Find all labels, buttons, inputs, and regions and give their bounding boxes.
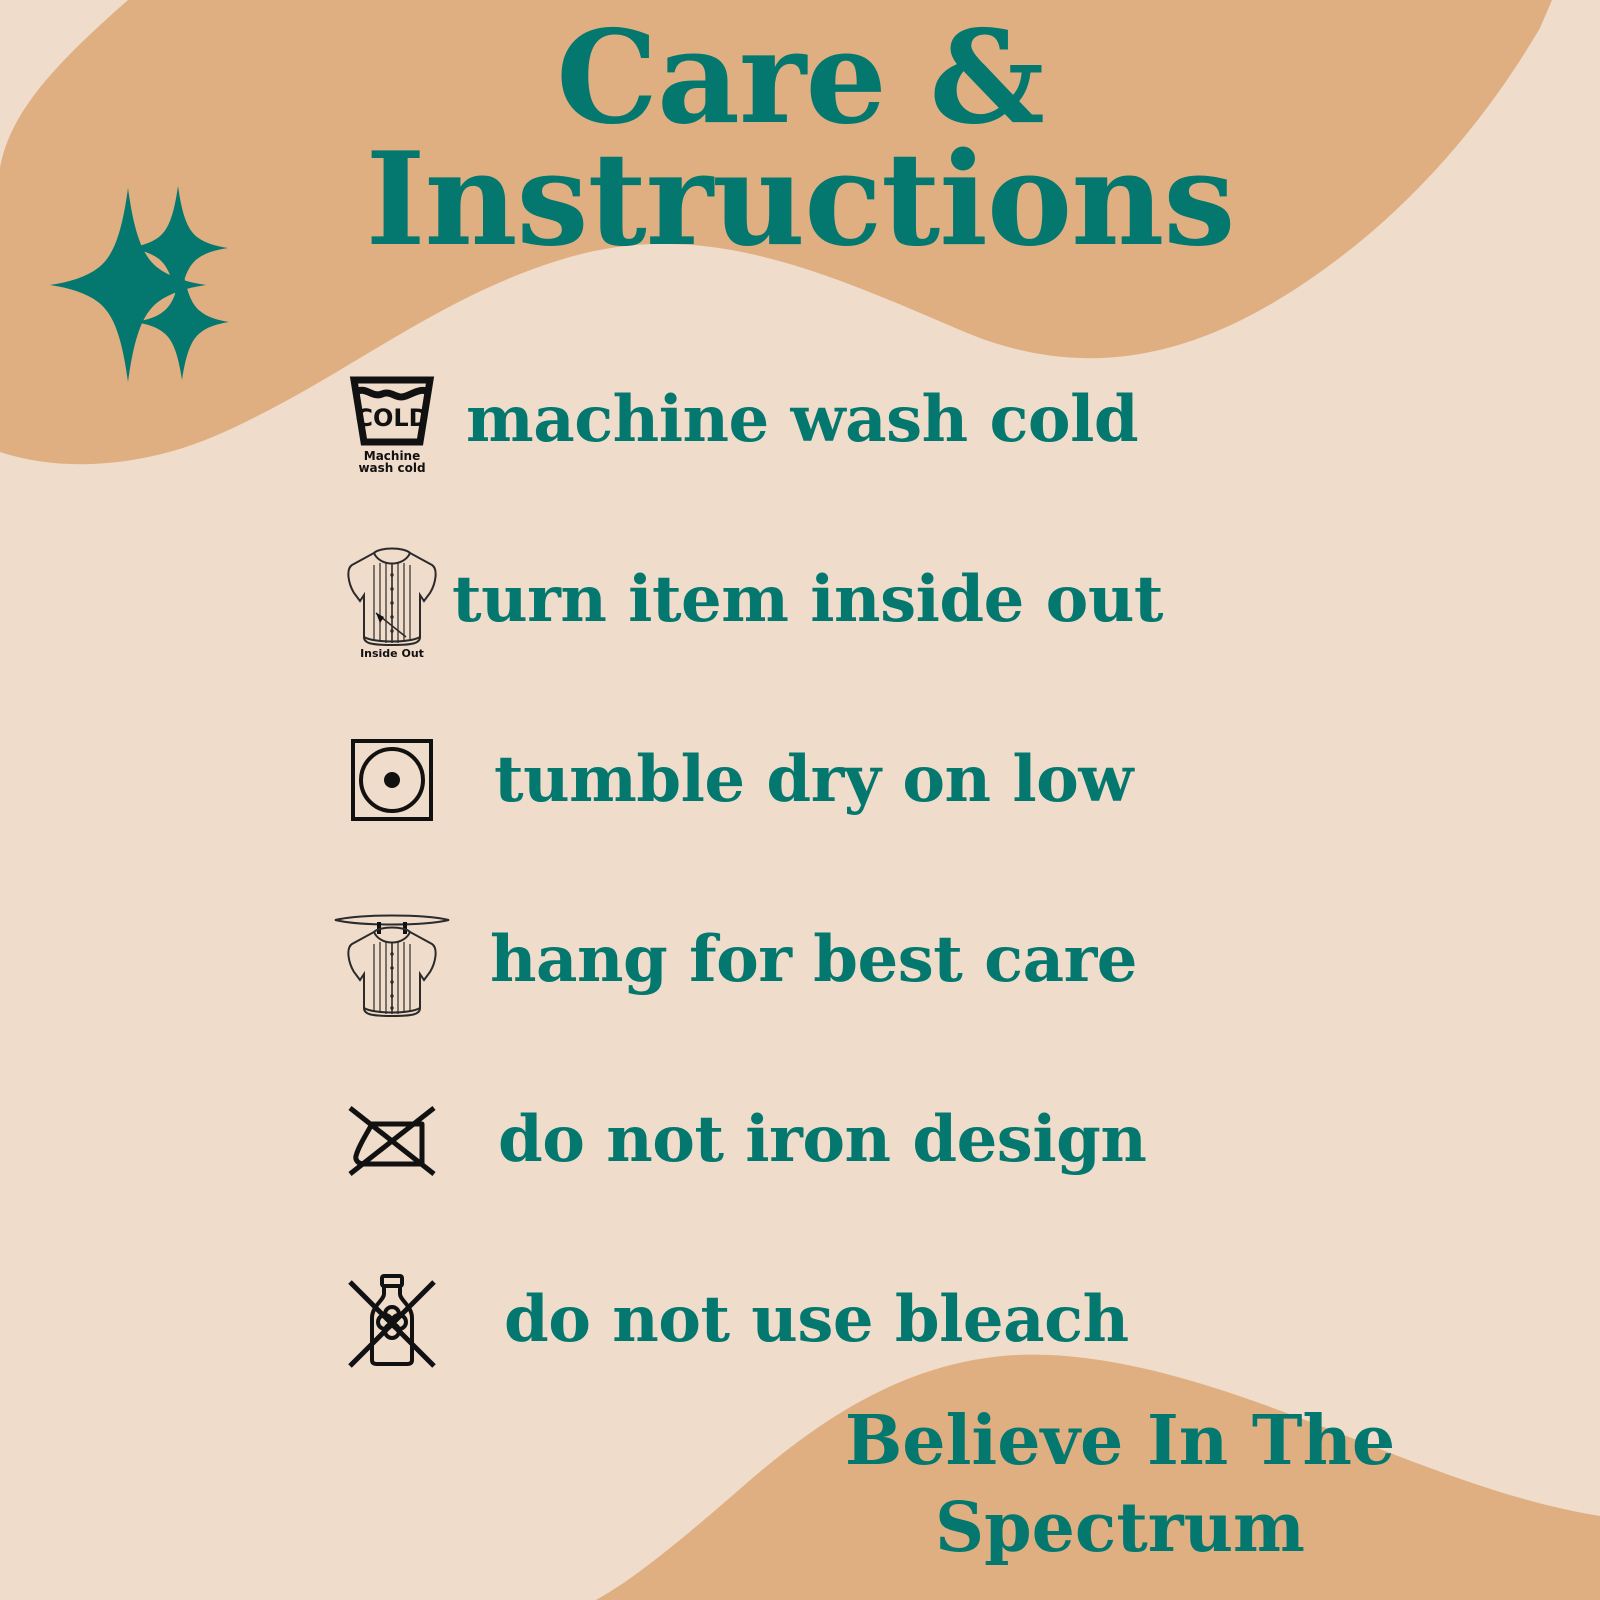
brand-line-2: Spectrum xyxy=(810,1485,1430,1572)
brand-name: Believe In The Spectrum xyxy=(810,1398,1430,1572)
list-item: do not iron design xyxy=(0,1050,1600,1230)
title-line-2: Instructions xyxy=(0,140,1600,262)
wash-icon-caption-2: wash cold xyxy=(358,461,425,475)
instruction-label: do not use bleach xyxy=(504,1288,1129,1352)
instruction-label: hang for best care xyxy=(490,928,1137,992)
list-item: tumble dry on low xyxy=(0,690,1600,870)
brand-line-1: Believe In The xyxy=(810,1398,1430,1485)
instruction-label: turn item inside out xyxy=(452,568,1163,632)
page-title: Care & Instructions xyxy=(0,18,1600,261)
list-item: hang for best care xyxy=(0,870,1600,1050)
machine-wash-cold-icon: COLD Machine wash cold xyxy=(336,355,448,485)
title-line-1: Care & xyxy=(0,18,1600,140)
wash-icon-text: COLD xyxy=(355,404,428,432)
instruction-label: tumble dry on low xyxy=(494,748,1133,812)
turn-inside-out-shirt-icon: Inside Out xyxy=(336,535,448,665)
inside-out-caption: Inside Out xyxy=(360,647,424,659)
instruction-label: machine wash cold xyxy=(466,388,1138,452)
instruction-list: COLD Machine wash cold machine wash cold xyxy=(0,330,1600,1410)
list-item: Inside Out turn item inside out xyxy=(0,510,1600,690)
do-not-bleach-icon xyxy=(336,1255,448,1385)
care-instructions-poster: Care & Instructions COLD Machine wash co… xyxy=(0,0,1600,1600)
instruction-label: do not iron design xyxy=(498,1108,1146,1172)
list-item: COLD Machine wash cold machine wash cold xyxy=(0,330,1600,510)
list-item: do not use bleach xyxy=(0,1230,1600,1410)
hang-dry-shirt-icon xyxy=(336,895,448,1025)
tumble-dry-low-icon xyxy=(336,715,448,845)
do-not-iron-icon xyxy=(336,1075,448,1205)
